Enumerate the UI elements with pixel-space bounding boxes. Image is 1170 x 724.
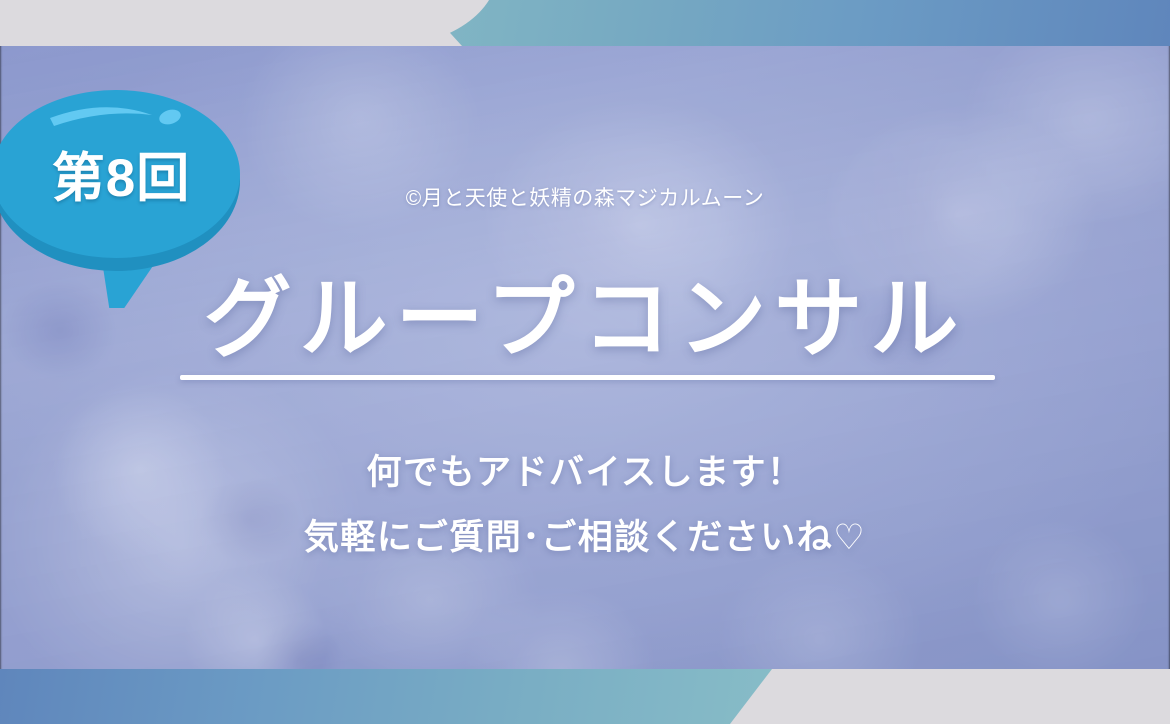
slide-canvas: 第8回 ©月と天使と妖精の森マジカルムーン グループコンサル 何でもアドバイスし… xyxy=(0,0,1170,724)
subtitle-line-2: 気軽にご質問･ご相談くださいね♡ xyxy=(0,509,1170,560)
title-underline xyxy=(180,375,995,380)
copyright-text: ©月と天使と妖精の森マジカルムーン xyxy=(0,182,1170,212)
bottom-bar-gray-block xyxy=(730,669,1170,724)
subtitle-line-1: 何でもアドバイスします！ xyxy=(0,444,1170,495)
episode-badge-label: 第8回 xyxy=(0,78,240,270)
page-title: グループコンサル xyxy=(0,272,1170,365)
top-banner-bar xyxy=(0,0,1170,46)
bottom-banner-bar xyxy=(0,669,1170,724)
